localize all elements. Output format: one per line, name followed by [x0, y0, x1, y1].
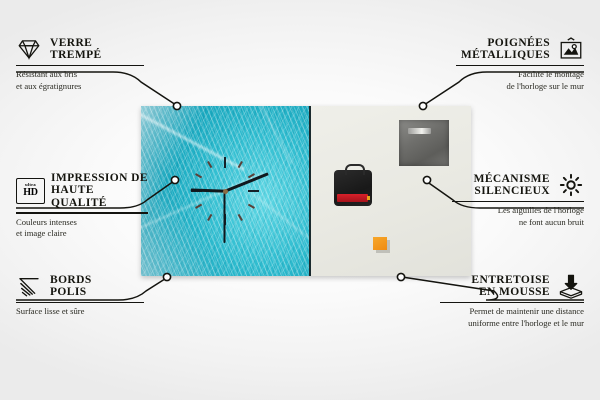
clock-front-panel: [141, 106, 311, 276]
foam-spacer-icon: [558, 273, 584, 299]
picture-hanger-icon: [558, 36, 584, 62]
feature-title: MÉCANISME SILENCIEUX: [474, 173, 550, 198]
feature-impression-haute-qualite: ultra HD IMPRESSION DE HAUTE QUALITÉ Cou…: [16, 172, 148, 239]
ultra-hd-icon: ultra HD: [16, 178, 43, 204]
feature-subtitle: Résistant aux bris et aux égratignures: [16, 69, 144, 91]
battery: [337, 194, 368, 202]
divider: [456, 65, 584, 66]
clock-mechanism: [334, 170, 372, 206]
divider: [16, 212, 148, 213]
divider: [16, 302, 144, 303]
feature-subtitle: Couleurs intenses et image claire: [16, 217, 148, 239]
mechanism-hanger-loop: [345, 164, 365, 175]
feature-subtitle: Surface lisse et sûre: [16, 306, 144, 317]
feature-bords-polis: BORDS POLIS Surface lisse et sûre: [16, 273, 144, 318]
foam-spacer: [373, 237, 387, 250]
feature-entretoise-en-mousse: ENTRETOISE EN MOUSSE Permet de maintenir…: [440, 273, 584, 329]
feature-subtitle: Facilite le montage de l'horloge sur le …: [456, 69, 584, 91]
feature-title: VERRE TREMPÉ: [50, 37, 102, 62]
clock-back-panel: [311, 106, 471, 276]
divider: [452, 201, 584, 202]
clock-center-hub: [223, 189, 228, 194]
diamond-icon: [16, 36, 42, 62]
feature-subtitle: Permet de maintenir une distance uniform…: [440, 306, 584, 328]
feature-title: ENTRETOISE EN MOUSSE: [471, 274, 550, 299]
feature-mecanisme-silencieux: MÉCANISME SILENCIEUX Les aiguilles de l'…: [452, 172, 584, 228]
ultra-hd-main-text: HD: [23, 188, 38, 198]
metal-handle: [399, 120, 449, 166]
feature-title: POIGNÉES MÉTALLIQUES: [461, 37, 550, 62]
feature-verre-trempe: VERRE TREMPÉ Résistant aux bris et aux é…: [16, 36, 144, 92]
infographic-canvas: VERRE TREMPÉ Résistant aux bris et aux é…: [0, 0, 600, 400]
divider: [16, 65, 144, 66]
gear-icon: [558, 172, 584, 198]
divider: [440, 302, 584, 303]
product-photo: [141, 106, 471, 276]
feature-subtitle: Les aiguilles de l'horloge ne font aucun…: [452, 205, 584, 227]
feature-title: IMPRESSION DE HAUTE QUALITÉ: [51, 172, 148, 209]
polished-edges-icon: [16, 273, 42, 299]
feature-title: BORDS POLIS: [50, 274, 92, 299]
feature-poignees-metalliques: POIGNÉES MÉTALLIQUES Facilite le montage…: [456, 36, 584, 92]
